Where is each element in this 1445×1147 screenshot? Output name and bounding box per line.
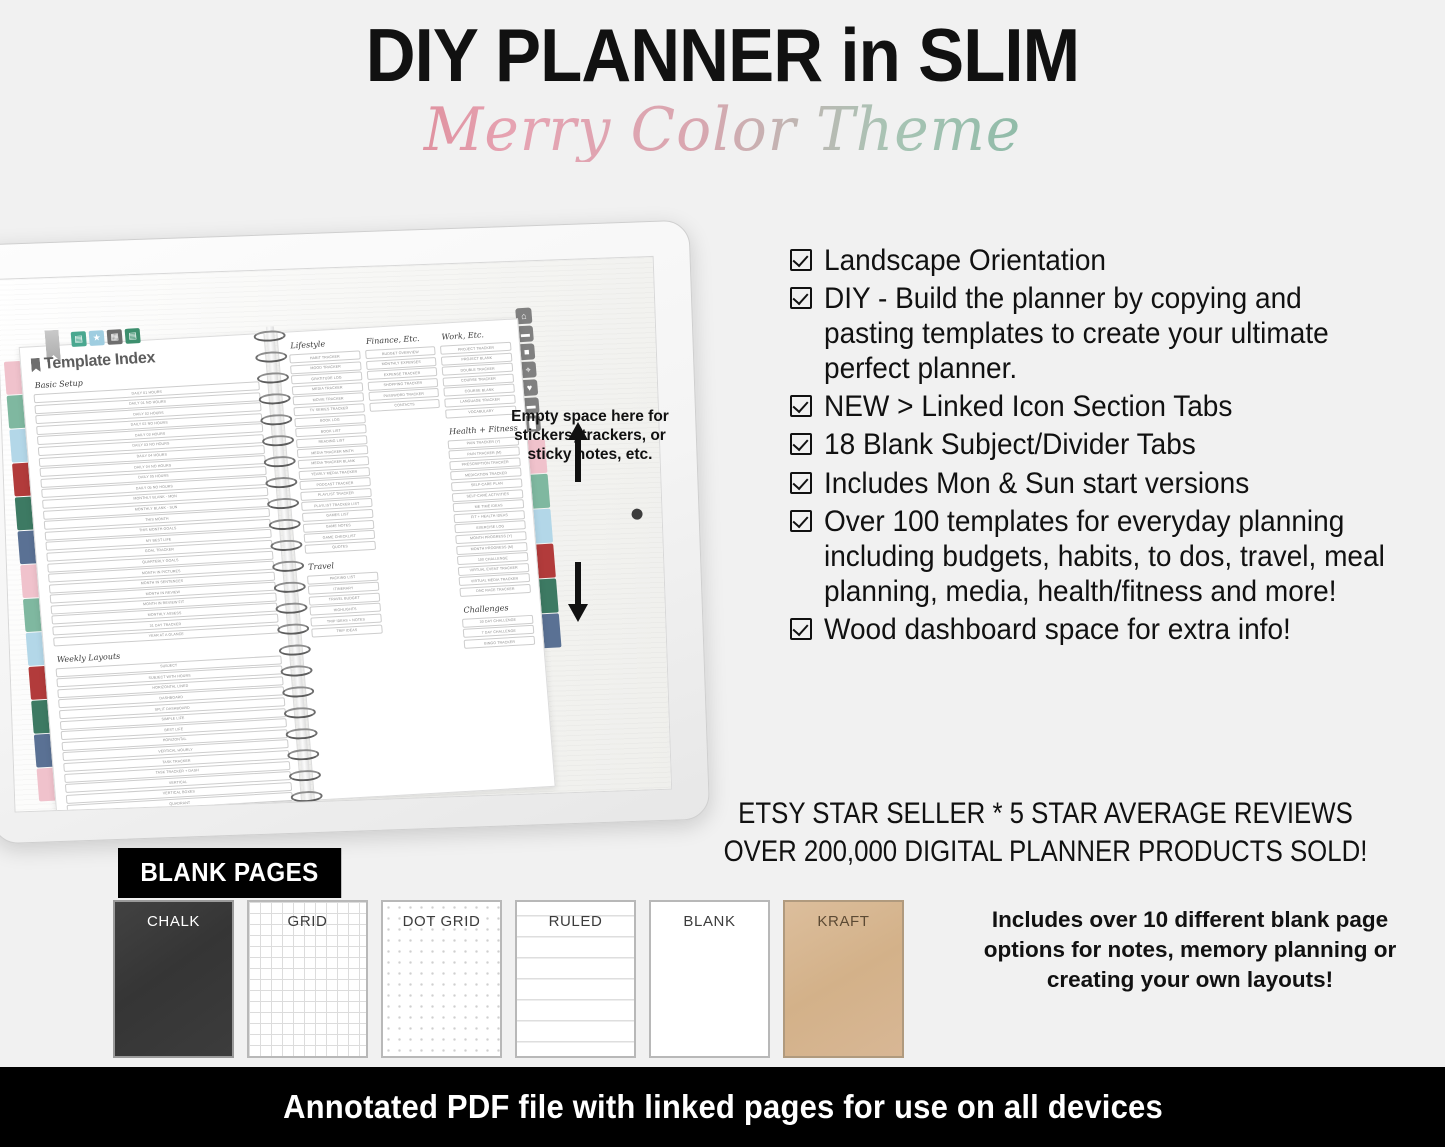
spiral-ring [287, 748, 320, 761]
swatch-label: RULED [517, 913, 634, 930]
spiral-ring [285, 727, 318, 740]
swatch-label: DOT GRID [383, 913, 500, 930]
column-heading: Work, Etc. [441, 329, 510, 342]
swatch-grid[interactable]: GRID [247, 900, 368, 1058]
template-link[interactable]: VOCABULARY [445, 405, 516, 418]
checkbox-checked-icon [790, 472, 812, 494]
spiral-ring [265, 476, 298, 489]
page-title: DIY PLANNER in SLIM [58, 18, 1387, 93]
template-link[interactable]: BINGO TRACKER [464, 636, 535, 649]
spiral-ring [253, 330, 286, 343]
spiral-ring [268, 518, 301, 531]
column-heading: Challenges [463, 602, 532, 615]
template-link[interactable]: TRIP IDEAS [311, 624, 382, 637]
swatch-kraft[interactable]: KRAFT [783, 900, 904, 1058]
feature-text: NEW > Linked Icon Section Tabs [824, 389, 1232, 424]
seller-line-1: ETSY STAR SELLER * 5 STAR AVERAGE REVIEW… [714, 795, 1377, 833]
spiral-ring [280, 665, 313, 678]
blank-pages-label: BLANK PAGES [118, 848, 341, 898]
feature-text: Includes Mon & Sun start versions [824, 466, 1249, 501]
spiral-ring [270, 539, 303, 552]
header: DIY PLANNER in SLIM Merry Color Theme [0, 0, 1445, 162]
tablet-screen: ⌂▬■⌖♥▬█ ▤★▦▤ Template Index Basic SetupD… [0, 256, 672, 813]
spiral-ring [282, 686, 315, 699]
template-link[interactable]: CONTACTS [369, 399, 440, 412]
feature-item-4: Includes Mon & Sun start versions [790, 466, 1430, 501]
column-heading: Travel [308, 558, 377, 571]
tablet-frame: ⌂▬■⌖♥▬█ ▤★▦▤ Template Index Basic SetupD… [0, 220, 710, 845]
bottom-banner: Annotated PDF file with linked pages for… [0, 1067, 1445, 1147]
swatch-blank[interactable]: BLANK [649, 900, 770, 1058]
checkbox-checked-icon [790, 395, 812, 417]
page-subtitle: Merry Color Theme [22, 99, 1424, 162]
checkbox-checked-icon [790, 510, 812, 532]
spiral-ring [275, 602, 308, 615]
swatch-ruled[interactable]: RULED [515, 900, 636, 1058]
right-page-columns: LifestyleHABIT TRACKERMOOD TRACKERGRATIT… [288, 329, 535, 659]
seller-credentials: ETSY STAR SELLER * 5 STAR AVERAGE REVIEW… [660, 795, 1431, 870]
feature-text: Wood dashboard space for extra info! [824, 612, 1291, 647]
spiral-ring [267, 497, 300, 510]
column-heading: Lifestyle [290, 337, 359, 350]
column-heading: Finance, Etc. [366, 333, 435, 346]
feature-item-5: Over 100 templates for everyday planning… [790, 504, 1430, 609]
spiral-ring [289, 769, 322, 782]
feature-list: Landscape OrientationDIY - Build the pla… [790, 243, 1430, 650]
feature-text: DIY - Build the planner by copying and p… [824, 281, 1400, 386]
spiral-ring [278, 644, 311, 657]
blank-pages-note: Includes over 10 different blank page op… [955, 905, 1425, 995]
swatch-chalk[interactable]: CHALK [113, 900, 234, 1058]
spiral-ring [284, 706, 317, 719]
swatch-label: BLANK [651, 913, 768, 930]
swatch-dot[interactable]: DOT GRID [381, 900, 502, 1058]
banner-text: Annotated PDF file with linked pages for… [283, 1088, 1163, 1126]
swatch-label: GRID [249, 913, 366, 930]
feature-item-1: DIY - Build the planner by copying and p… [790, 281, 1430, 386]
feature-text: 18 Blank Subject/Divider Tabs [824, 427, 1196, 462]
arrow-down-icon [566, 562, 590, 624]
spiral-ring [272, 560, 305, 573]
spiral-ring [258, 392, 291, 405]
checkbox-checked-icon [790, 287, 812, 309]
column-heading: Health + Fitness [449, 423, 518, 436]
template-link[interactable]: DNC RACE TRACKER [460, 584, 531, 597]
spiral-ring [262, 434, 295, 447]
swatch-label: CHALK [115, 913, 232, 930]
feature-item-2: NEW > Linked Icon Section Tabs [790, 389, 1430, 424]
feature-item-3: 18 Blank Subject/Divider Tabs [790, 427, 1430, 462]
spiral-ring [257, 372, 290, 385]
spiral-ring [290, 790, 323, 803]
template-link[interactable]: QUOTES [304, 540, 375, 553]
checkbox-checked-icon [790, 249, 812, 271]
feature-text: Landscape Orientation [824, 243, 1106, 278]
spiral-ring [273, 581, 306, 594]
feature-text: Over 100 templates for everyday planning… [824, 504, 1400, 609]
spiral-ring [277, 623, 310, 636]
spiral-ring [263, 455, 296, 468]
bookmark-icon [31, 358, 41, 372]
index-title: Template Index [43, 349, 155, 373]
planner-spread: ⌂▬■⌖♥▬█ ▤★▦▤ Template Index Basic SetupD… [19, 318, 556, 812]
tablet-mockup: ⌂▬■⌖♥▬█ ▤★▦▤ Template Index Basic SetupD… [0, 232, 717, 852]
feature-item-6: Wood dashboard space for extra info! [790, 612, 1430, 647]
checkbox-checked-icon [790, 433, 812, 455]
empty-space-annotation: Empty space here for stickers, trackers,… [510, 408, 670, 465]
spiral-ring [260, 413, 293, 426]
blank-page-swatches: CHALKGRIDDOT GRIDRULEDBLANKKRAFT [113, 900, 904, 1058]
seller-line-2: OVER 200,000 DIGITAL PLANNER PRODUCTS SO… [714, 833, 1377, 871]
swatch-label: KRAFT [785, 913, 902, 930]
checkbox-checked-icon [790, 618, 812, 640]
spiral-ring [255, 351, 288, 364]
feature-item-0: Landscape Orientation [790, 243, 1430, 278]
